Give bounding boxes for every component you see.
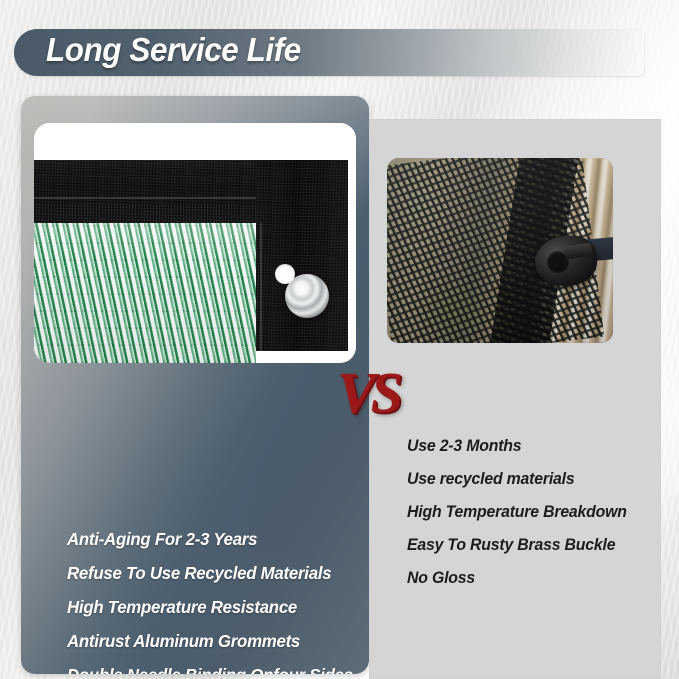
left-comparison-panel: Anti-Aging For 2-3 Years Refuse To Use R… [21,96,369,674]
left-product-photo [34,123,356,363]
green-shade-mesh-fabric [34,223,256,363]
versus-label: VS [337,358,409,428]
list-item: High Temperature Resistance [67,592,355,622]
list-item: Use 2-3 Months [407,432,647,460]
list-item: Use recycled materials [407,465,647,493]
buckle-tab [563,242,593,260]
list-item: Easy To Rusty Brass Buckle [407,531,647,559]
list-item: Antirust Aluminum Grommets [67,626,355,656]
right-comparison-panel: Use 2-3 Months Use recycled materials Hi… [369,119,661,679]
mesh-shading-overlay [34,223,256,363]
grommet-ring-icon [285,274,329,318]
right-product-photo [387,158,613,343]
list-item: Refuse To Use Recycled Materials [67,558,355,588]
list-item: No Gloss [407,564,647,592]
black-binding-tape-right [256,160,348,351]
infographic-canvas: Long Service Life Anti-A [0,0,679,679]
left-feature-list: Anti-Aging For 2-3 Years Refuse To Use R… [67,524,367,674]
list-item: High Temperature Breakdown [407,498,647,526]
page-title: Long Service Life [46,31,301,69]
photo-white-background [34,123,356,160]
right-feature-list: Use 2-3 Months Use recycled materials Hi… [407,432,657,597]
list-item: Double Needle Binding Onfour Sides [67,660,355,674]
left-photo-content [34,123,356,363]
versus-badge: VS [337,358,409,428]
binding-tape-stitch-seam-horizontal [34,197,261,199]
grommet-hole [275,264,295,284]
list-item: Anti-Aging For 2-3 Years [67,524,355,554]
binding-tape-stitch-seam-vertical [260,223,262,351]
